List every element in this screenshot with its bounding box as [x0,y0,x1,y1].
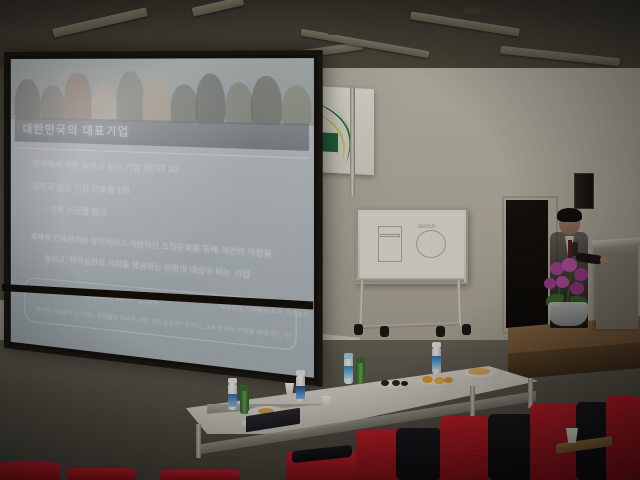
whiteboard-surface: sketch [360,212,464,280]
seat[interactable] [0,462,60,480]
slide-body: 한국에서 가장 일하고 싶은 기업 BEST 30 일하고 싶은 기업 선호별 … [11,151,314,378]
bottle-cap [344,353,353,359]
bottle-label [296,386,305,399]
whiteboard-caster [462,324,471,335]
seat[interactable] [160,470,240,480]
presenter-hand [600,256,608,264]
bottle-cap [228,378,237,384]
bottle-cap [356,357,365,363]
presenter-hair [557,208,582,222]
slide-bullet: 한국에서 가장 일하고 싶은 기업 BEST 30 [32,158,178,176]
seat-armrest [488,414,534,480]
projection-screen: 대한민국의 대표기업 한국에서 가장 일하고 싶은 기업 BEST 30 일하고… [4,50,323,387]
banner-pole [350,88,355,196]
table-leg [196,424,201,458]
slide-title: 대한민국의 대표기업 [22,120,129,139]
whiteboard: sketch [356,208,468,284]
flower-bloom [556,276,569,288]
ceiling-light-icon [192,0,245,17]
bottle-cap [296,370,305,376]
lecture-hall-photo: 수회 전략토론 한경공학교 대한민국의 대표기 [0,0,640,480]
whiteboard-marking [416,230,446,258]
slide-bullet: 높이고, 자아실현의 기회를 제공하는 선망의 대상이 되는 기업 [44,252,250,280]
slide-bullet: - 신문 스크랩 참고 [44,203,106,218]
whiteboard-caster [354,324,363,335]
food-item [422,376,433,383]
bottle-label [228,394,237,407]
bottle-cap [240,385,249,391]
food-item [401,381,408,386]
ceiling-light-icon [52,7,148,37]
slide-header-photo [11,58,314,126]
whiteboard-scribble: sketch [418,224,435,230]
food-item [392,380,400,386]
projection-surface: 대한민국의 대표기업 한국에서 가장 일하고 싶은 기업 BEST 30 일하고… [11,58,314,378]
green-bottle [356,362,365,384]
whiteboard-caster [380,326,389,337]
ceiling-vent [328,30,342,35]
wall-speaker-icon [574,173,594,209]
whiteboard-marking [380,234,400,237]
food-item [381,380,389,386]
flower-bloom [574,268,588,281]
food-item [468,368,490,375]
whiteboard-marking [378,226,402,262]
food-item [444,377,453,383]
flower-vase [548,302,588,326]
flower-arrangement [540,258,596,328]
ceiling-vent [464,8,480,14]
whiteboard-pen-tray [356,278,464,282]
bottle-label [432,356,441,369]
seat-armrest [396,428,442,480]
bottle-cap [432,342,441,348]
whiteboard-caster [436,326,445,337]
slide-bullet: 일하고 싶은 기업 선호별 1위 [32,180,129,196]
flower-bloom [544,278,556,289]
ceiling-light-icon [500,46,620,66]
flower-bloom [570,282,584,295]
seat[interactable] [66,468,136,480]
bottle-label [344,366,353,379]
ceiling-light-icon [410,11,520,36]
